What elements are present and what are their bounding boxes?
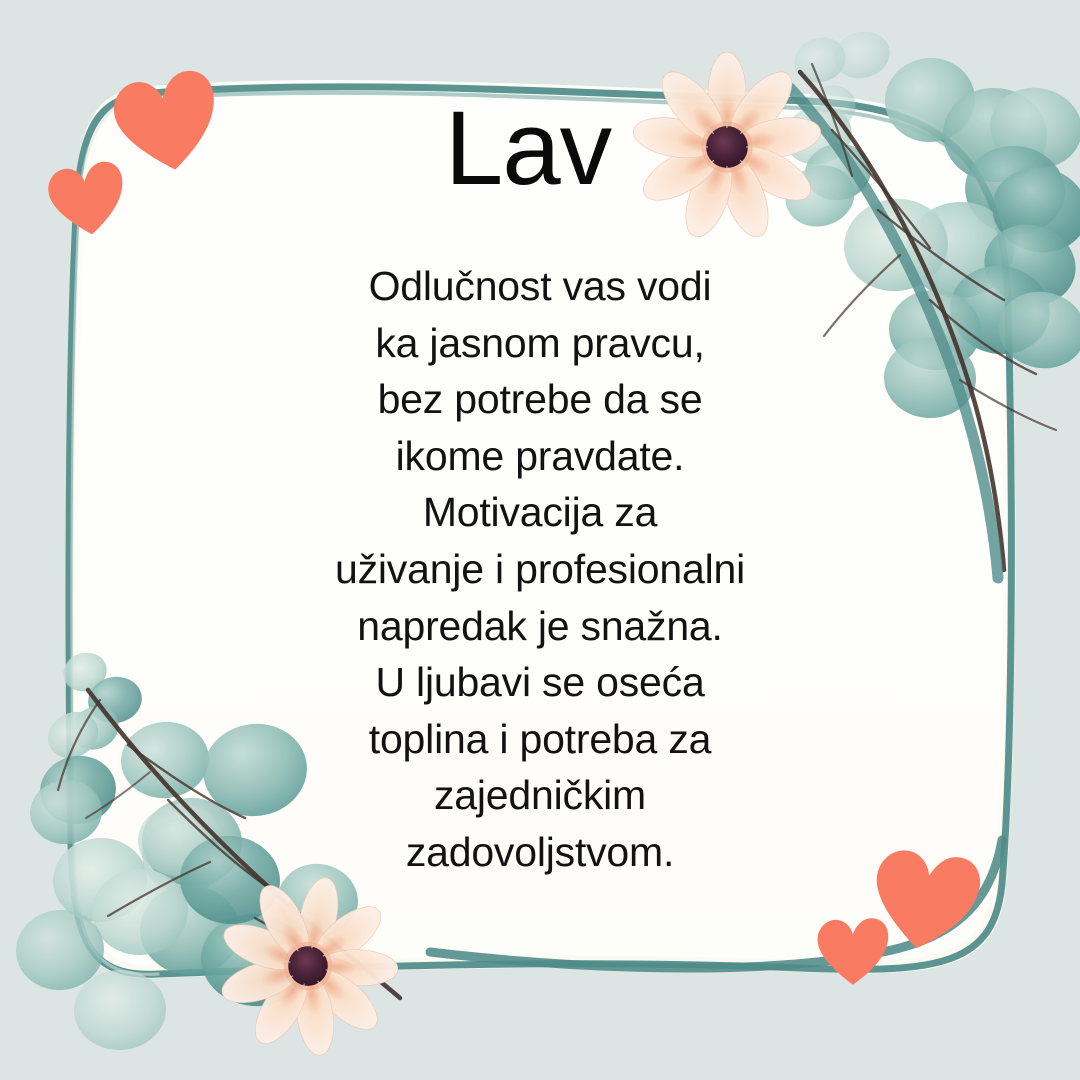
heart-large-top-left xyxy=(108,65,229,181)
anemone-flower-top xyxy=(632,52,822,242)
anemone-flower-bottom xyxy=(218,876,398,1056)
heart-small-top-left xyxy=(44,158,132,242)
quote-card: Lav Odlučnost vas vodi ka jasnom pravcu,… xyxy=(0,0,1080,1080)
hearts-layer xyxy=(0,0,1080,1080)
heart-small-bottom-right xyxy=(816,916,891,987)
